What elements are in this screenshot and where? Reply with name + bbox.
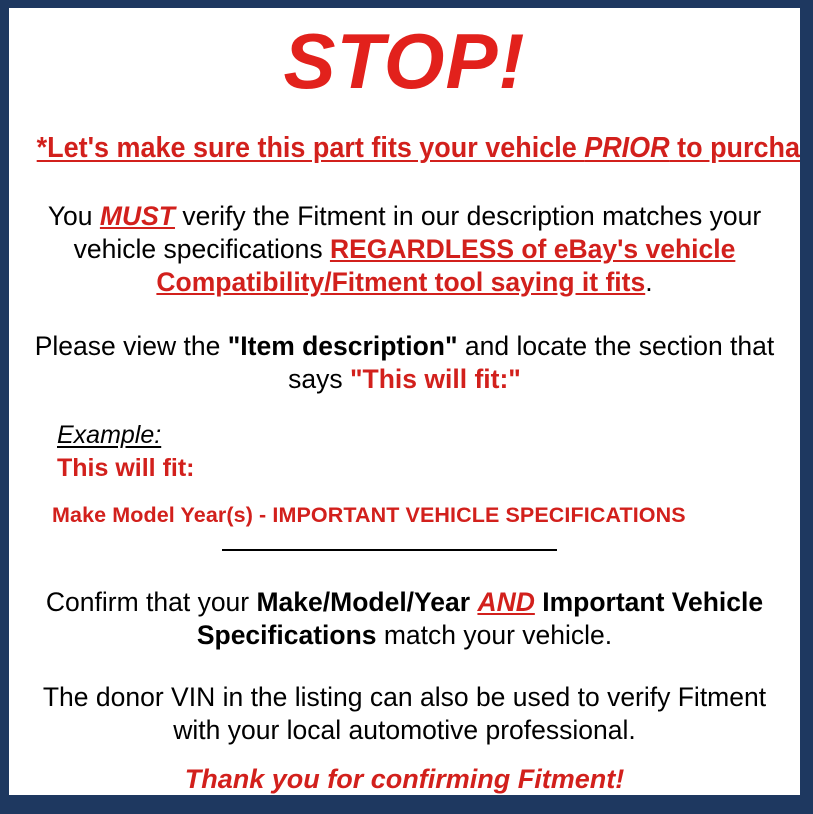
subtitle-part-1: *Let's make sure this part fits your veh… [37, 132, 585, 164]
subtitle-part-2: to purchasing* [670, 132, 800, 164]
p4-segment-1: Confirm that your [46, 587, 257, 617]
p2-item-description-emphasis: "Item description" [228, 331, 458, 361]
notice-content: STOP! *Let's make sure this part fits yo… [9, 8, 800, 795]
section-divider [222, 549, 557, 551]
example-label: Example: [57, 420, 161, 451]
example-label-row: Example: [57, 420, 195, 451]
p4-and-emphasis: AND [477, 587, 534, 617]
p4-make-model-year-emphasis: Make/Model/Year [256, 587, 470, 617]
paragraph-donor-vin: The donor VIN in the listing can also be… [27, 681, 782, 747]
paragraph-item-description: Please view the "Item description" and l… [27, 330, 782, 396]
p1-segment-1: You [48, 201, 100, 231]
fitment-subtitle: *Let's make sure this part fits your veh… [37, 131, 773, 165]
paragraph-must-verify: You MUST verify the Fitment in our descr… [27, 200, 782, 299]
example-block: Example: This will fit: [57, 420, 195, 485]
p2-segment-1: Please view the [35, 331, 228, 361]
p2-this-will-fit-emphasis: "This will fit:" [350, 364, 521, 394]
p1-segment-3: . [645, 267, 652, 297]
stop-heading: STOP! [9, 18, 800, 104]
paragraph-confirm-match: Confirm that your Make/Model/Year AND Im… [27, 586, 782, 652]
fitment-notice-card: STOP! *Let's make sure this part fits yo… [9, 8, 800, 795]
closing-thank-you: Thank you for confirming Fitment! [9, 763, 800, 795]
p1-must-emphasis: MUST [100, 201, 175, 231]
example-this-will-fit: This will fit: [57, 452, 195, 485]
p4-segment-2: match your vehicle. [377, 620, 613, 650]
subtitle-prior-emphasis: PRIOR [584, 132, 669, 164]
example-spec-line: Make Model Year(s) - IMPORTANT VEHICLE S… [52, 502, 686, 528]
